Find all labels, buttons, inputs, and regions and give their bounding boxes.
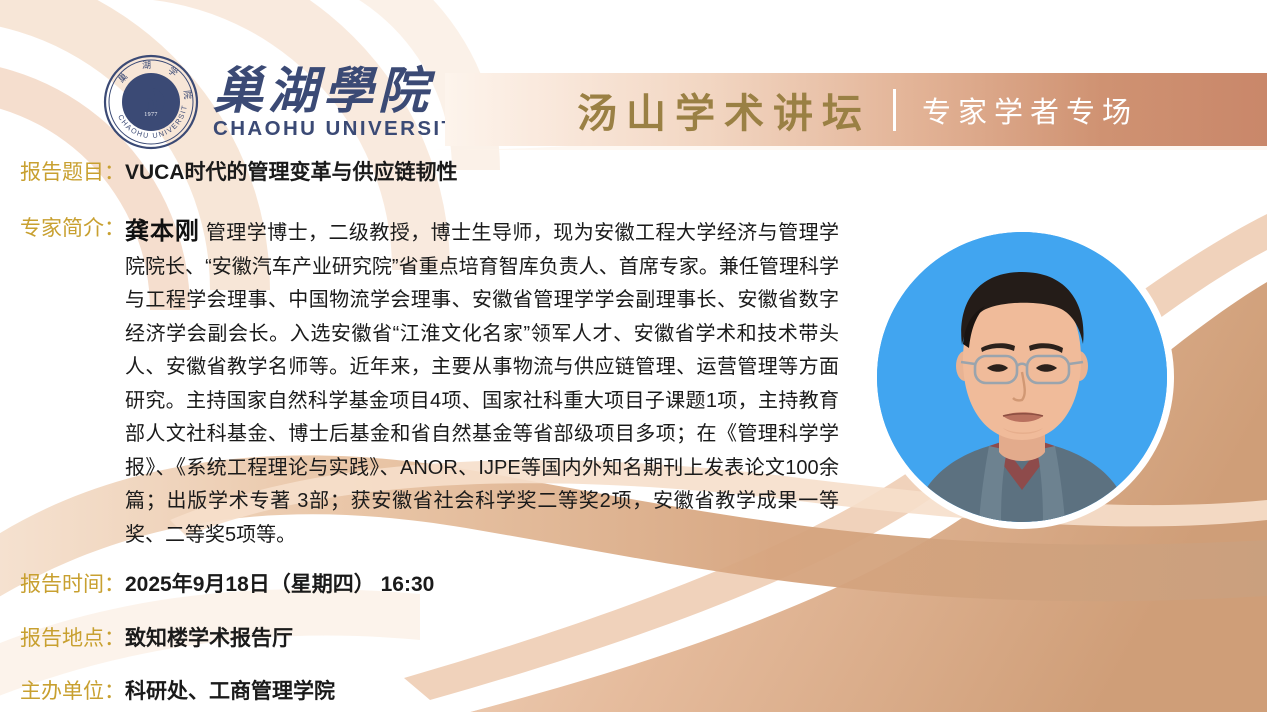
banner-divider <box>893 89 896 131</box>
poster-header: 1977 巢 湖 学 院 CHAOHU UNIVERSITY 巢湖學院 CHAO… <box>0 0 1267 150</box>
speaker-name: 龚本刚 <box>125 218 200 245</box>
chaohu-university-crest-icon: 1977 巢 湖 学 院 CHAOHU UNIVERSITY <box>103 54 199 150</box>
forum-banner: 汤山学术讲坛 专家学者专场 <box>445 73 1267 146</box>
speaker-bio-row: 专家简介： 龚本刚 管理学博士，二级教授，博士生导师，现为安徽工程大学经济与管理… <box>20 215 880 552</box>
university-name-cn: 巢湖學院 <box>213 65 472 117</box>
lecture-place-row: 报告地点： 致知楼学术报告厅 <box>20 625 293 653</box>
lecture-host-label: 主办单位： <box>20 678 125 706</box>
lecture-time-value: 2025年9月18日（星期四） 16:30 <box>125 571 434 599</box>
speaker-portrait <box>877 232 1167 522</box>
lecture-title-value: VUCA时代的管理变革与供应链韧性 <box>125 159 458 187</box>
speaker-bio-text: 管理学博士，二级教授，博士生导师，现为安徽工程大学经济与管理学院院长、“安徽汽车… <box>125 222 839 546</box>
lecture-time-label: 报告时间： <box>20 571 125 599</box>
university-brand: 1977 巢 湖 学 院 CHAOHU UNIVERSITY 巢湖學院 CHAO… <box>103 54 472 150</box>
lecture-place-value: 致知楼学术报告厅 <box>125 625 293 653</box>
university-name-en: CHAOHU UNIVERSITY <box>213 118 472 141</box>
forum-subtitle: 专家学者专场 <box>922 89 1138 131</box>
lecture-time-row: 报告时间： 2025年9月18日（星期四） 16:30 <box>20 571 434 599</box>
lecture-poster: 1977 巢 湖 学 院 CHAOHU UNIVERSITY 巢湖學院 CHAO… <box>0 0 1267 712</box>
lecture-place-label: 报告地点： <box>20 625 125 653</box>
lecture-title-label: 报告题目： <box>20 159 125 187</box>
lecture-title-row: 报告题目： VUCA时代的管理变革与供应链韧性 <box>20 159 458 187</box>
lecture-host-value: 科研处、工商管理学院 <box>125 678 335 706</box>
svg-text:1977: 1977 <box>144 112 158 118</box>
university-wordmark: 巢湖學院 CHAOHU UNIVERSITY <box>213 63 472 141</box>
forum-title: 汤山学术讲坛 <box>577 81 871 139</box>
speaker-bio-body: 龚本刚 管理学博士，二级教授，博士生导师，现为安徽工程大学经济与管理学院院长、“… <box>125 215 839 552</box>
lecture-host-row: 主办单位： 科研处、工商管理学院 <box>20 678 335 706</box>
speaker-bio-label: 专家简介： <box>20 215 125 243</box>
